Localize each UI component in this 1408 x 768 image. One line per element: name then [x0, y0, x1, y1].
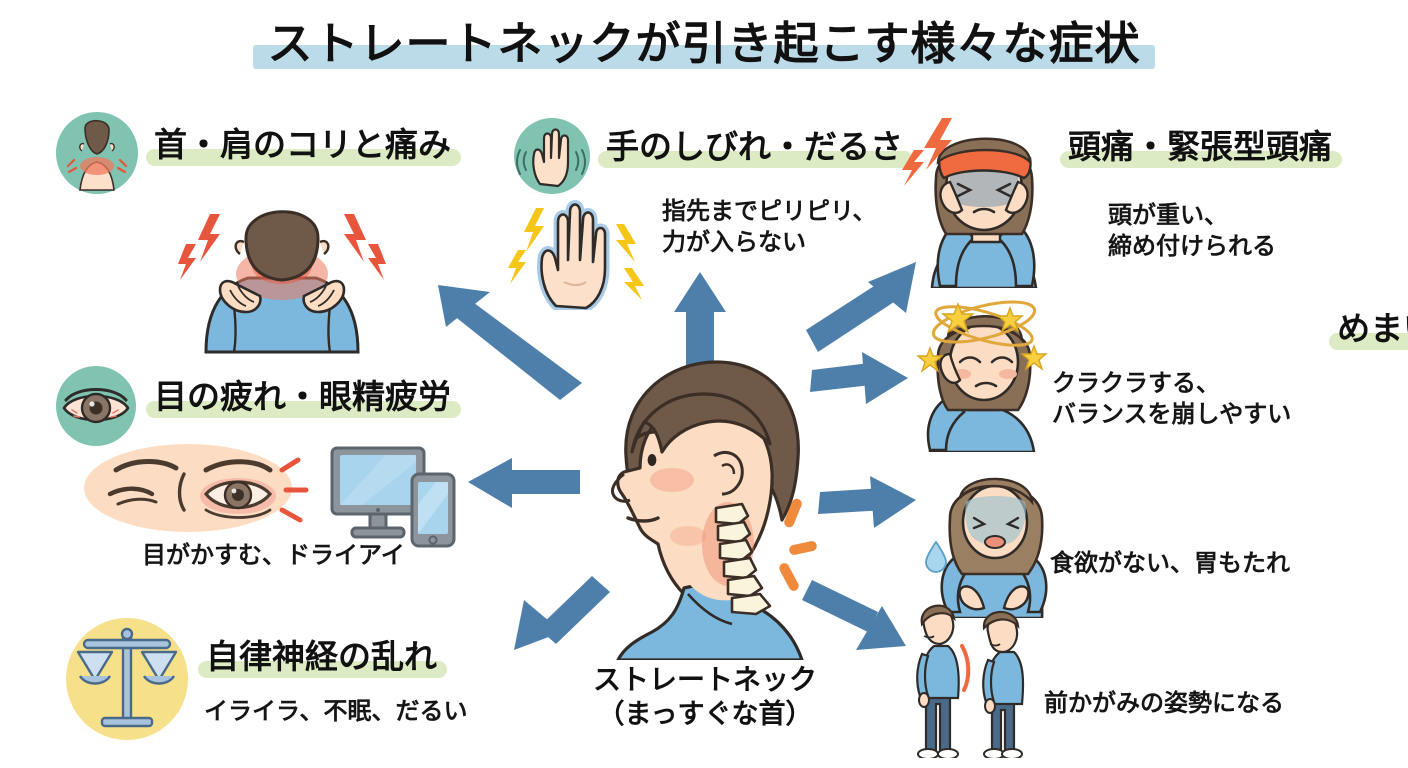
- symptom-eye-strain-desc: 目がかすむ、ドライアイ: [142, 540, 405, 571]
- illustration-tired-eyes: [80, 434, 320, 544]
- symptom-posture-desc: 前かがみの姿勢になる: [1044, 688, 1284, 719]
- symptom-autonomic-desc: イライラ、不眠、だるい: [204, 696, 468, 727]
- desc-line-1: イライラ、不眠、だるい: [204, 696, 468, 727]
- desc-line-1: 食欲がない、胃もたれ: [1050, 548, 1290, 579]
- center-label-line2: （まっすぐな首）: [540, 698, 870, 733]
- desc-line-1: 目がかすむ、ドライアイ: [142, 540, 405, 571]
- symptom-eye-strain-heading: 目の疲れ・眼精疲労: [148, 378, 457, 416]
- symptom-nausea-desc: 食欲がない、胃もたれ: [1050, 548, 1290, 579]
- infographic-canvas: ストレートネックが引き起こす様々な症状: [0, 0, 1408, 768]
- illustration-headache: [900, 112, 1066, 288]
- illustration-dizziness: [904, 296, 1064, 452]
- balance-scale-icon: [66, 618, 188, 740]
- desc-line-2: バランスを崩しやすい: [1052, 399, 1291, 430]
- desc-line-2: 力が入らない: [662, 227, 877, 258]
- center-illustration: [566, 348, 846, 660]
- desc-line-1: クラクラする、: [1052, 368, 1291, 399]
- symptom-hand-numbness[interactable]: 手のしびれ・だるさ: [514, 118, 823, 156]
- illustration-posture: [884, 592, 1044, 758]
- symptom-headache-heading: 頭痛・緊張型頭痛: [1062, 128, 1338, 166]
- center-label-line1: ストレートネック: [540, 662, 870, 698]
- symptom-hand-numbness-heading: 手のしびれ・だるさ: [600, 128, 909, 166]
- symptom-autonomic[interactable]: 自律神経の乱れ イライラ、不眠、だるい: [66, 618, 309, 656]
- symptom-neck-shoulder-heading: 首・肩のコリと痛み: [148, 126, 457, 164]
- symptom-eye-strain[interactable]: 目の疲れ・眼精疲労: [56, 366, 365, 404]
- symptom-dizziness-heading: めまい・立ちくらみ: [1331, 310, 1408, 348]
- center-label: ストレートネック （まっすぐな首）: [540, 662, 870, 732]
- symptom-headache-desc: 頭が重い、 締め付けられる: [1108, 200, 1276, 261]
- desc-line-1: 前かがみの姿勢になる: [1044, 688, 1284, 719]
- title-text: ストレートネックが引き起こす様々な症状: [267, 17, 1140, 70]
- illustration-tingling-hand: [504, 182, 648, 310]
- illustration-devices: [326, 440, 458, 552]
- neck-pain-icon: [56, 112, 138, 194]
- symptom-hand-numbness-desc: 指先までピリピリ、 力が入らない: [662, 196, 877, 257]
- desc-line-1: 指先までピリピリ、: [662, 196, 877, 227]
- arrow-left-eyes: [468, 458, 580, 508]
- symptom-autonomic-heading: 自律神経の乱れ: [200, 638, 443, 676]
- desc-line-1: 頭が重い、: [1108, 200, 1276, 231]
- symptom-neck-shoulder[interactable]: 首・肩のコリと痛み: [56, 112, 365, 150]
- illustration-neck-shoulder: [176, 186, 388, 356]
- symptom-dizziness-desc: クラクラする、 バランスを崩しやすい: [1052, 368, 1291, 429]
- desc-line-2: 締め付けられる: [1108, 231, 1276, 262]
